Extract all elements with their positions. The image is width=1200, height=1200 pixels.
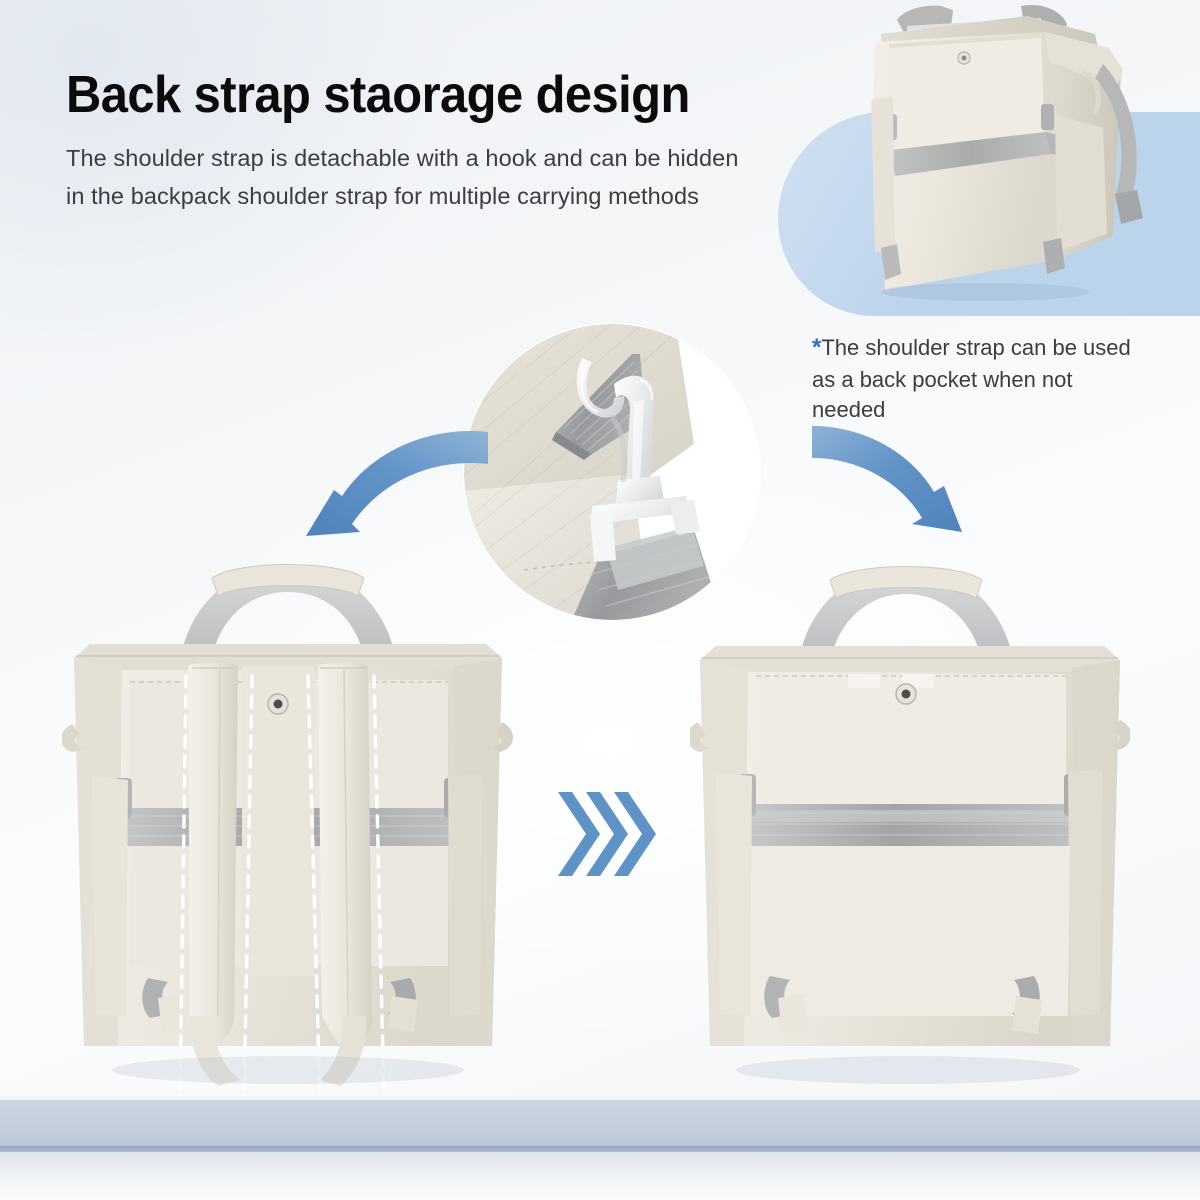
headline-block: Back strap staorage design The shoulder … <box>66 68 766 215</box>
page-title: Back strap staorage design <box>66 68 724 123</box>
curved-arrow-down-left-icon <box>302 424 492 554</box>
bottom-shelf-band <box>0 1100 1200 1148</box>
hero-product-photo <box>845 4 1157 310</box>
product-feature-graphic: Back strap staorage design The shoulder … <box>0 0 1200 1200</box>
bag-photo-straps-stowed <box>690 546 1130 1102</box>
bottom-shelf-fade <box>0 1152 1200 1200</box>
asterisk-marker: * <box>812 334 821 361</box>
bag-photo-straps-exposed <box>62 546 514 1102</box>
strap-pocket-note: *The shoulder strap can be used as a bac… <box>812 332 1142 424</box>
triple-chevron-right-icon <box>556 788 668 880</box>
page-subtitle: The shoulder strap is detachable with a … <box>66 139 756 215</box>
curved-arrow-down-right-icon <box>812 424 972 548</box>
strap-pocket-note-text: The shoulder strap can be used as a back… <box>812 335 1131 422</box>
